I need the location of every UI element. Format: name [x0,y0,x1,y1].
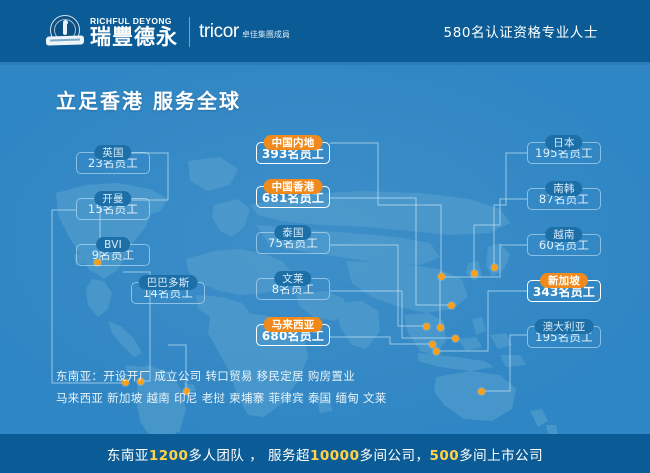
footer-text-segment: 多间公司， [359,448,429,464]
brand-logo: RICHFUL DEYONG 瑞豐德永 tricor 卓佳集團成員 [46,14,290,50]
location-card[interactable]: 文莱8名员工 [256,271,330,300]
dot-thailand [423,323,430,330]
dot-china [438,273,445,280]
location-card[interactable]: BVI9名员工 [76,237,150,266]
footer-text-segment: 东南亚 [107,448,149,464]
logo-divider [189,17,190,47]
location-name: 马来西亚 [264,317,323,332]
location-card[interactable]: 中国内地393名员工 [256,135,330,164]
location-card[interactable]: 开曼15名员工 [76,191,150,220]
notes-line-2: 马来西亚 新加坡 越南 印尼 老挝 柬埔寨 菲律宾 泰国 缅甸 文莱 [56,387,387,409]
dot-hongkong [448,302,455,309]
location-name: 越南 [545,227,582,242]
location-card[interactable]: 新加坡343名员工 [527,273,601,302]
notes-line-1: 东南亚：开设开厂 成立公司 转口贸易 移民定居 购房置业 [56,365,387,387]
footer-highlight-number: 500 [429,448,459,464]
location-card[interactable]: 日本195名员工 [527,135,601,164]
location-name: 巴巴多斯 [139,275,198,290]
location-card[interactable]: 澳大利亚195名员工 [527,319,601,348]
location-name: 中国香港 [264,179,323,194]
partner-subtitle: 卓佳集團成員 [242,29,290,40]
location-name: 新加坡 [540,273,588,288]
dot-australia [478,388,485,395]
footer-highlight-number: 1200 [149,448,189,464]
location-name: 泰国 [274,225,311,240]
dot-vietnam [437,324,444,331]
location-name: 开曼 [94,191,131,206]
location-name: 中国内地 [264,135,323,150]
dot-brunei [452,335,459,342]
location-card[interactable]: 马来西亚680名员工 [256,317,330,346]
infographic-root: RICHFUL DEYONG 瑞豐德永 tricor 卓佳集團成員 580名认证… [0,0,650,473]
header-bar: RICHFUL DEYONG 瑞豐德永 tricor 卓佳集團成員 580名认证… [0,0,650,62]
location-card[interactable]: 中国香港681名员工 [256,179,330,208]
footer-bar: 东南亚1200多人团队 ， 服务超10000多间公司，500多间上市公司 [0,434,650,473]
footer-text-segment: 多间上市公司 [459,448,543,464]
location-name: 日本 [545,135,582,150]
dot-singapore [433,348,440,355]
location-card[interactable]: 越南60名员工 [527,227,601,256]
location-name: 英国 [94,145,131,160]
notes-block: 东南亚：开设开厂 成立公司 转口贸易 移民定居 购房置业 马来西亚 新加坡 越南… [56,365,387,409]
footer-text-segment: 多人团队 ， 服务超 [188,448,310,464]
footer-highlight-number: 10000 [310,448,359,464]
dot-korea [471,270,478,277]
location-card[interactable]: 巴巴多斯14名员工 [131,275,205,304]
partner-logo: tricor 卓佳集團成員 [199,22,290,42]
dot-japan [491,264,498,271]
partner-name: tricor [199,22,239,42]
header-tagline: 580名认证资格专业人士 [444,21,598,41]
brand-name-en: RICHFUL DEYONG [90,16,178,26]
brand-name-cn: 瑞豐德永 [90,26,178,49]
location-card[interactable]: 英国23名员工 [76,145,150,174]
dot-malaysia [429,341,436,348]
brand-wordmark: RICHFUL DEYONG 瑞豐德永 [90,16,178,49]
crest-emblem-icon [46,15,84,49]
location-name: 南韩 [545,181,582,196]
location-name: 文莱 [274,271,311,286]
location-name: 澳大利亚 [535,319,594,334]
location-name: BVI [96,237,130,252]
main-panel: 立足香港 服务全球 [0,62,650,434]
location-card[interactable]: 南韩87名员工 [527,181,601,210]
footer-statistics: 东南亚1200多人团队 ， 服务超10000多间公司，500多间上市公司 [107,444,543,464]
location-card[interactable]: 泰国75名员工 [256,225,330,254]
